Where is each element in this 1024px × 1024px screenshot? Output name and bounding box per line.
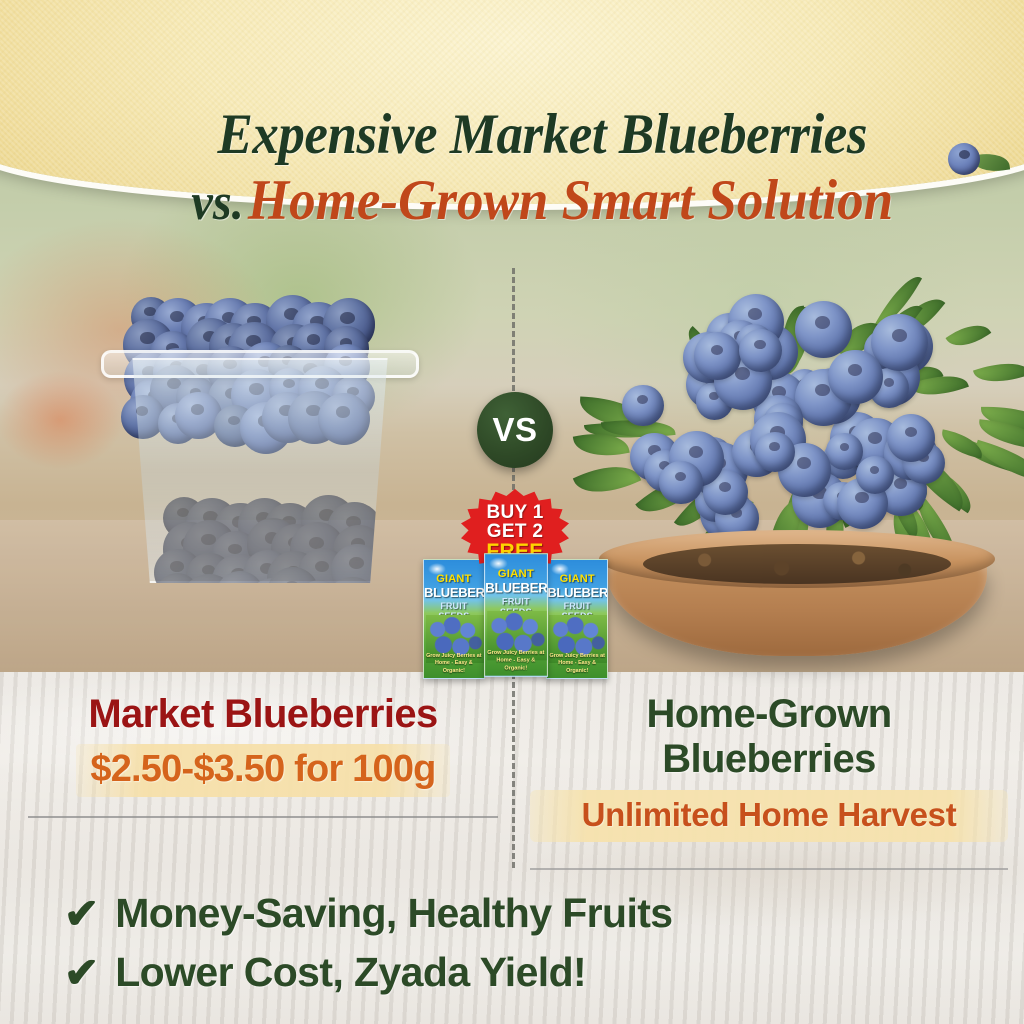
market-blueberry-punnet-image <box>95 300 425 600</box>
benefits-list: ✔ Money-Saving, Healthy Fruits ✔ Lower C… <box>64 890 964 1008</box>
promo-graphic: VS GIANT BLUEBERRY FRUIT SEEDS Grow Juic… <box>0 0 1024 1024</box>
blueberry <box>622 385 663 426</box>
blueberry <box>826 433 862 469</box>
home-grown-blueberry-plant-image <box>585 262 1005 682</box>
headline-highlight: Home-Grown Smart Solution <box>248 169 893 232</box>
blueberry <box>828 350 883 405</box>
seed-packet: GIANT BLUEBERRY FRUIT SEEDS Grow Juicy B… <box>423 559 485 679</box>
home-grown-highlight: Unlimited Home Harvest <box>582 796 957 833</box>
plastic-punnet <box>115 358 405 583</box>
headline-vs-prefix: vs. <box>191 174 243 231</box>
blueberry <box>755 432 795 472</box>
packet-name: BLUEBERRY <box>424 585 484 600</box>
blueberry <box>659 461 702 504</box>
blueberry <box>694 332 741 379</box>
blueberry-leaf-icon <box>948 143 982 177</box>
home-grown-column: Home-Grown Blueberries Unlimited Home Ha… <box>530 692 1008 842</box>
header-banner-content: Expensive Market Blueberries vs. Home-Gr… <box>30 66 1024 270</box>
vs-badge-label: VS <box>492 411 537 449</box>
packet-footer: Grow Juicy Berries at Home - Easy & Orga… <box>424 653 484 675</box>
packet-brand: GIANT <box>424 573 484 585</box>
pot-soil-pebbles <box>643 544 951 584</box>
check-mark-icon: ✔ <box>64 952 99 994</box>
home-grown-highlight-band: Unlimited Home Harvest <box>530 790 1008 842</box>
market-column: Market Blueberries $2.50-$3.50 for 100g <box>28 692 498 797</box>
benefit-text: Money-Saving, Healthy Fruits <box>115 890 672 937</box>
headline-line-1: Expensive Market Blueberries <box>217 105 867 164</box>
right-column-rule <box>530 868 1008 870</box>
packet-brand: GIANT <box>547 573 607 585</box>
packet-footer: Grow Juicy Berries at Home - Easy & Orga… <box>547 653 607 675</box>
headline-line-2: vs. Home-Grown Smart Solution <box>191 171 893 231</box>
market-title: Market Blueberries <box>28 692 498 736</box>
market-price: $2.50-$3.50 for 100g <box>90 748 435 790</box>
seed-packet-group: GIANT BLUEBERRY FRUIT SEEDS Grow Juicy B… <box>423 559 608 679</box>
packet-footer: Grow Juicy Berries at Home - Easy & Orga… <box>485 650 546 673</box>
packet-brand: GIANT <box>485 568 546 580</box>
blueberry <box>795 301 852 358</box>
blueberry <box>331 544 384 597</box>
badge-line-2: GET 2 <box>487 522 543 541</box>
home-grown-title-line-1: Home-Grown <box>530 692 1008 737</box>
badge-line-1: BUY 1 <box>486 503 543 522</box>
berry-shape <box>948 143 980 175</box>
check-mark-icon: ✔ <box>64 893 99 935</box>
packet-name: BLUEBERRY <box>485 580 546 595</box>
packet-name: BLUEBERRY <box>547 585 607 600</box>
list-item: ✔ Money-Saving, Healthy Fruits <box>64 890 964 937</box>
home-grown-title-line-2: Blueberries <box>530 737 1008 782</box>
blueberry-bush <box>593 268 997 558</box>
blueberry <box>739 329 782 372</box>
seed-packet: GIANT BLUEBERRY FRUIT SEEDS Grow Juicy B… <box>484 553 548 677</box>
list-item: ✔ Lower Cost, Zyada Yield! <box>64 949 964 996</box>
benefit-text: Lower Cost, Zyada Yield! <box>115 949 586 996</box>
leaf <box>946 316 992 356</box>
blueberry <box>856 456 894 494</box>
vs-badge: VS <box>477 392 553 468</box>
market-price-band: $2.50-$3.50 for 100g <box>76 744 449 797</box>
seed-packet: GIANT BLUEBERRY FRUIT SEEDS Grow Juicy B… <box>546 559 608 679</box>
left-column-rule <box>28 816 498 818</box>
